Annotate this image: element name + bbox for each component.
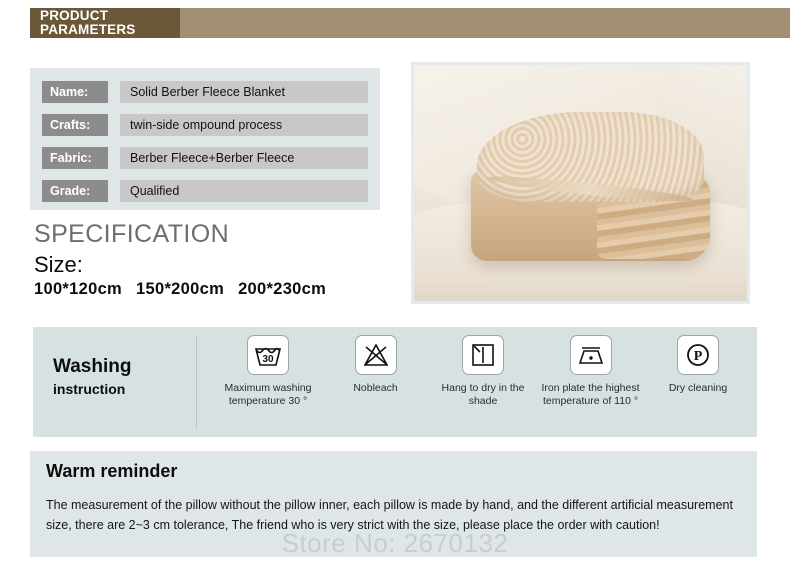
parameters-panel: Name: Solid Berber Fleece Blanket Crafts… <box>30 68 380 210</box>
washing-divider <box>196 335 197 429</box>
wash-tub-30-icon: 30 <box>247 335 289 375</box>
care-symbol-iron: Iron plate the highest temperature of 11… <box>541 333 641 433</box>
hang-to-dry-shade-icon <box>462 335 504 375</box>
svg-text:30: 30 <box>262 354 274 365</box>
washing-instruction-panel: Washing instruction 30 Maximum washing t… <box>33 327 757 437</box>
param-label-crafts: Crafts: <box>42 114 108 136</box>
care-symbol-iron-caption: Iron plate the highest temperature of 11… <box>541 382 641 408</box>
care-symbol-dryclean: P Dry cleaning <box>648 333 748 433</box>
iron-one-dot-icon <box>570 335 612 375</box>
no-bleach-icon <box>355 335 397 375</box>
dry-clean-p-icon: P <box>677 335 719 375</box>
product-image <box>411 62 750 304</box>
size-option-2: 200*230cm <box>238 280 326 298</box>
product-photo-scene <box>414 65 747 301</box>
param-value-name: Solid Berber Fleece Blanket <box>120 81 368 103</box>
svg-text:P: P <box>694 349 703 364</box>
param-label-fabric: Fabric: <box>42 147 108 169</box>
care-symbols-row: 30 Maximum washing temperature 30 ° Nobl… <box>218 333 748 433</box>
size-option-1: 150*200cm <box>136 280 224 298</box>
size-options: 100*120cm150*200cm200*230cm <box>34 280 340 299</box>
washing-subtitle: instruction <box>53 379 193 399</box>
washing-heading: Washing instruction <box>53 355 193 399</box>
param-label-grade: Grade: <box>42 180 108 202</box>
page-title: PRODUCT PARAMETERS <box>40 9 240 37</box>
care-symbol-bleach: Nobleach <box>326 333 426 433</box>
washing-title: Washing <box>53 355 193 379</box>
size-option-0: 100*120cm <box>34 280 122 298</box>
care-symbol-dry: Hang to dry in the shade <box>433 333 533 433</box>
care-symbol-dry-caption: Hang to dry in the shade <box>433 382 533 408</box>
param-value-crafts: twin-side ompound process <box>120 114 368 136</box>
size-label: Size: <box>34 252 83 278</box>
care-symbol-wash-caption: Maximum washing temperature 30 ° <box>218 382 318 408</box>
store-number-watermark: Store No: 2670132 <box>0 528 790 559</box>
specification-title: SPECIFICATION <box>34 220 229 249</box>
param-value-grade: Qualified <box>120 180 368 202</box>
care-symbol-dryclean-caption: Dry cleaning <box>669 382 727 395</box>
care-symbol-bleach-caption: Nobleach <box>353 382 397 395</box>
warm-reminder-title: Warm reminder <box>46 461 177 482</box>
care-symbol-wash: 30 Maximum washing temperature 30 ° <box>218 333 318 433</box>
param-label-name: Name: <box>42 81 108 103</box>
param-value-fabric: Berber Fleece+Berber Fleece <box>120 147 368 169</box>
